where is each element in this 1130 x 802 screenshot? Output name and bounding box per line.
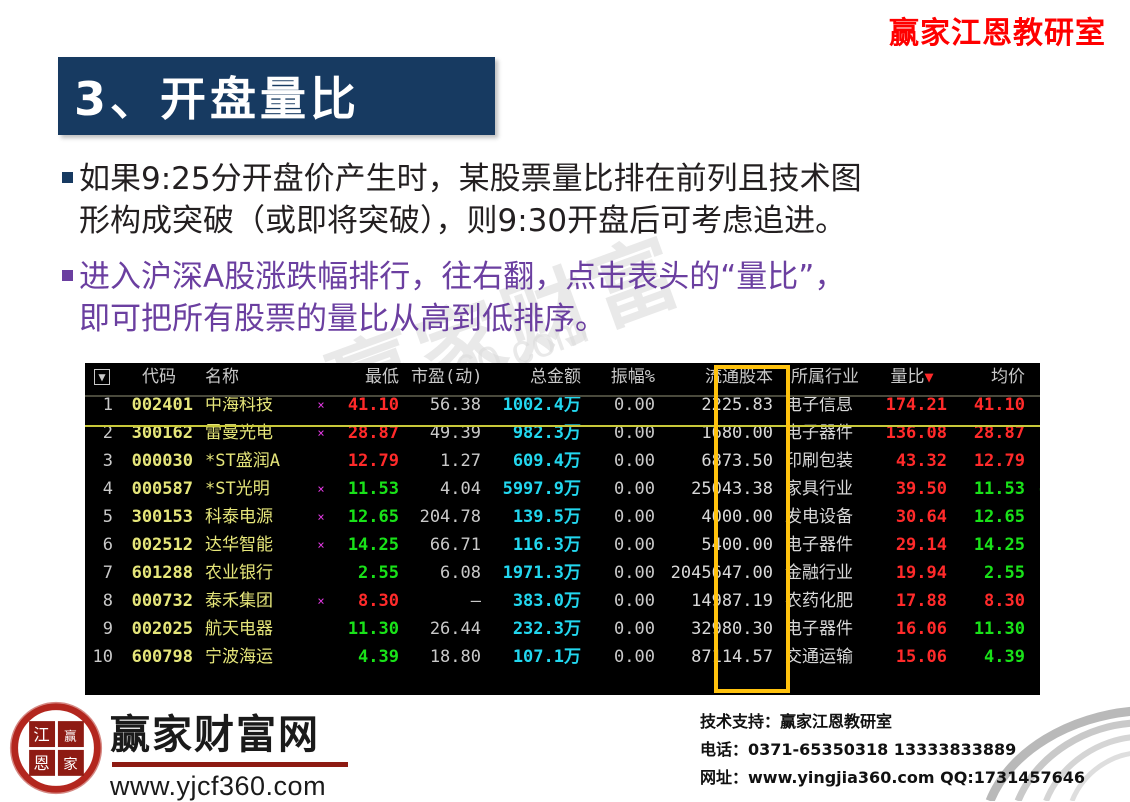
cell-code: 002512	[119, 531, 199, 559]
section-title-box: 3、开盘量比	[58, 57, 495, 135]
cell-volume-ratio: 16.06	[871, 615, 953, 643]
cell-code: 000587	[119, 475, 199, 503]
filter-dropdown-icon[interactable]: ▼	[85, 363, 119, 391]
cell-industry: 交通运输	[779, 643, 871, 671]
cell-name: 农业银行	[199, 559, 311, 587]
cell-pe: 6.08	[405, 559, 487, 587]
cell-amount: 609.4万	[487, 447, 587, 475]
cell-low: 11.30	[331, 615, 405, 643]
cell-volume-ratio: 29.14	[871, 531, 953, 559]
cell-industry: 电子器件	[779, 419, 871, 447]
cell-mark-icon: ×	[311, 419, 331, 447]
cell-avg-price: 28.87	[953, 419, 1031, 447]
cell-volume-ratio: 39.50	[871, 475, 953, 503]
cell-amplitude: 0.00	[587, 447, 661, 475]
cell-shares: 4000.00	[661, 503, 779, 531]
cell-mark-icon	[311, 447, 331, 475]
cell-bid-ratio: -70.84	[1031, 447, 1040, 475]
cell-index: 4	[85, 475, 119, 503]
cell-amount: 1971.3万	[487, 559, 587, 587]
cell-avg-price: 11.53	[953, 475, 1031, 503]
cell-code: 601288	[119, 559, 199, 587]
footer-contact-block: 技术支持：赢家江恩教研室 电话：0371-65350318 1333383388…	[700, 708, 1085, 792]
bullet-list: 如果9:25分开盘价产生时，某股票量比排在前列且技术图 形构成突破（或即将突破）…	[62, 158, 1082, 355]
cell-industry: 发电设备	[779, 503, 871, 531]
column-header-mark	[311, 363, 331, 391]
selected-row-underline	[85, 425, 1040, 427]
cell-code: 300153	[119, 503, 199, 531]
stock-quote-table[interactable]: ▼ 代码 名称 最低 市盈(动) 总金额 振幅% 流通股本 所属行业 量比▼ 均…	[85, 363, 1040, 695]
bullet-text-2: 进入沪深A股涨跌幅排行，往右翻，点击表头的“量比”， 即可把所有股票的量比从高到…	[79, 256, 845, 340]
cell-low: 4.39	[331, 643, 405, 671]
cell-bid-ratio: 30.73	[1031, 419, 1040, 447]
cell-avg-price: 4.39	[953, 643, 1031, 671]
cell-amplitude: 0.00	[587, 559, 661, 587]
cell-mark-icon: ×	[311, 475, 331, 503]
cell-amount: 5997.9万	[487, 475, 587, 503]
cell-amplitude: 0.00	[587, 587, 661, 615]
brand-title: 赢家江恩教研室	[889, 8, 1106, 52]
column-header-amount[interactable]: 总金额	[487, 363, 587, 391]
cell-code: 000030	[119, 447, 199, 475]
cell-volume-ratio: 43.32	[871, 447, 953, 475]
column-header-pe[interactable]: 市盈(动)	[405, 363, 487, 391]
cell-shares: 2045647.00	[661, 559, 779, 587]
cell-pe: —	[405, 587, 487, 615]
cell-code: 600798	[119, 643, 199, 671]
cell-avg-price: 14.25	[953, 531, 1031, 559]
cell-shares: 6873.50	[661, 447, 779, 475]
bullet-item-2: 进入沪深A股涨跌幅排行，往右翻，点击表头的“量比”， 即可把所有股票的量比从高到…	[62, 256, 1082, 340]
cell-amount: 232.3万	[487, 615, 587, 643]
bullet-item-1: 如果9:25分开盘价产生时，某股票量比排在前列且技术图 形构成突破（或即将突破）…	[62, 158, 1082, 242]
column-header-code[interactable]: 代码	[119, 363, 199, 391]
cell-shares: 25043.38	[661, 475, 779, 503]
cell-index: 8	[85, 587, 119, 615]
cell-pe: 26.44	[405, 615, 487, 643]
cell-amplitude: 0.00	[587, 643, 661, 671]
cell-volume-ratio: 136.08	[871, 419, 953, 447]
contact-phone: 电话：0371-65350318 13333833889	[700, 736, 1085, 764]
contact-support: 技术支持：赢家江恩教研室	[700, 708, 1085, 736]
page-title: 3、开盘量比	[58, 63, 360, 129]
cell-name: 航天电器	[199, 615, 311, 643]
cell-amplitude: 0.00	[587, 531, 661, 559]
cell-bid-ratio: 31.93	[1031, 615, 1040, 643]
cell-bid-ratio: 74.13	[1031, 503, 1040, 531]
stock-table-grid: ▼ 代码 名称 最低 市盈(动) 总金额 振幅% 流通股本 所属行业 量比▼ 均…	[85, 363, 1040, 671]
cell-industry: 印刷包装	[779, 447, 871, 475]
cell-index: 6	[85, 531, 119, 559]
cell-low: 2.55	[331, 559, 405, 587]
svg-text:恩: 恩	[33, 754, 49, 773]
cell-name: 宁波海运	[199, 643, 311, 671]
column-header-volume-ratio-label: 量比	[890, 367, 924, 387]
svg-text:江: 江	[33, 725, 49, 744]
column-header-avg-price[interactable]: 均价	[953, 363, 1031, 391]
cell-volume-ratio: 19.94	[871, 559, 953, 587]
cell-bid-ratio: 9.17	[1031, 559, 1040, 587]
cell-name: 科泰电源	[199, 503, 311, 531]
cell-low: 14.25	[331, 531, 405, 559]
cell-index: 5	[85, 503, 119, 531]
company-seal-logo-icon: 江 赢 恩 家	[8, 700, 104, 796]
cell-shares: 14987.19	[661, 587, 779, 615]
cell-pe: 66.71	[405, 531, 487, 559]
cell-volume-ratio: 15.06	[871, 643, 953, 671]
column-header-volume-ratio[interactable]: 量比▼	[871, 363, 953, 391]
cell-shares: 1680.00	[661, 419, 779, 447]
cell-industry: 电子器件	[779, 531, 871, 559]
cell-bid-ratio: 49.93	[1031, 587, 1040, 615]
cell-mark-icon	[311, 643, 331, 671]
cell-amount: 383.0万	[487, 587, 587, 615]
cell-amplitude: 0.00	[587, 475, 661, 503]
cell-avg-price: 12.65	[953, 503, 1031, 531]
cell-shares: 32980.30	[661, 615, 779, 643]
cell-mark-icon	[311, 615, 331, 643]
sort-descending-icon: ▼	[924, 368, 933, 386]
cell-pe: 18.80	[405, 643, 487, 671]
svg-text:赢: 赢	[64, 728, 77, 743]
cell-amount: 116.3万	[487, 531, 587, 559]
cell-amplitude: 0.00	[587, 503, 661, 531]
cell-amount: 107.1万	[487, 643, 587, 671]
cell-amplitude: 0.00	[587, 615, 661, 643]
cell-avg-price: 11.30	[953, 615, 1031, 643]
bullet-text-1: 如果9:25分开盘价产生时，某股票量比排在前列且技术图 形构成突破（或即将突破）…	[79, 158, 862, 242]
column-header-shares[interactable]: 流通股本	[661, 363, 779, 391]
cell-avg-price: 8.30	[953, 587, 1031, 615]
cell-bid-ratio: -100.00	[1031, 475, 1040, 503]
cell-code: 002025	[119, 615, 199, 643]
column-header-industry[interactable]: 所属行业	[779, 363, 871, 391]
contact-website: 网址：www.yingjia360.com QQ:1731457646	[700, 764, 1085, 792]
cell-industry: 家具行业	[779, 475, 871, 503]
cell-mark-icon: ×	[311, 587, 331, 615]
cell-code: 300162	[119, 419, 199, 447]
column-header-low[interactable]: 最低	[331, 363, 405, 391]
cell-mark-icon: ×	[311, 503, 331, 531]
cell-volume-ratio: 17.88	[871, 587, 953, 615]
cell-low: 11.53	[331, 475, 405, 503]
cell-index: 2	[85, 419, 119, 447]
cell-bid-ratio: -71.63	[1031, 531, 1040, 559]
cell-industry: 金融行业	[779, 559, 871, 587]
column-header-amplitude[interactable]: 振幅%	[587, 363, 661, 391]
cell-low: 12.65	[331, 503, 405, 531]
cell-pe: 204.78	[405, 503, 487, 531]
cell-code: 000732	[119, 587, 199, 615]
svg-text:家: 家	[63, 756, 77, 773]
column-header-name[interactable]: 名称	[199, 363, 311, 391]
cell-pe: 4.04	[405, 475, 487, 503]
cell-low: 8.30	[331, 587, 405, 615]
cell-index: 10	[85, 643, 119, 671]
cell-index: 7	[85, 559, 119, 587]
cell-name: *ST光明	[199, 475, 311, 503]
cell-mark-icon	[311, 559, 331, 587]
footer-logo-divider	[112, 762, 348, 767]
bullet-marker-icon	[62, 172, 73, 183]
cell-low: 28.87	[331, 419, 405, 447]
footer-site-url: www.yjcf360.com	[110, 771, 348, 802]
cell-bid-ratio: 23.51	[1031, 643, 1040, 671]
cell-index: 3	[85, 447, 119, 475]
cell-shares: 5400.00	[661, 531, 779, 559]
cell-name: 达华智能	[199, 531, 311, 559]
footer-site-name: 赢家财富网	[110, 702, 348, 760]
bullet-marker-icon	[62, 270, 73, 281]
cell-pe: 1.27	[405, 447, 487, 475]
header-separator	[85, 395, 1040, 397]
cell-amount: 982.3万	[487, 419, 587, 447]
cell-amount: 139.5万	[487, 503, 587, 531]
cell-name: 雷曼光电	[199, 419, 311, 447]
footer-logo-text: 赢家财富网 www.yjcf360.com	[110, 702, 348, 802]
cell-shares: 87114.57	[661, 643, 779, 671]
cell-volume-ratio: 30.64	[871, 503, 953, 531]
cell-avg-price: 12.79	[953, 447, 1031, 475]
column-header-bid-ratio[interactable]: 委比%	[1031, 363, 1040, 391]
cell-mark-icon: ×	[311, 531, 331, 559]
cell-industry: 农药化肥	[779, 587, 871, 615]
cell-index: 9	[85, 615, 119, 643]
cell-low: 12.79	[331, 447, 405, 475]
cell-pe: 49.39	[405, 419, 487, 447]
cell-industry: 电子器件	[779, 615, 871, 643]
cell-name: *ST盛润A	[199, 447, 311, 475]
cell-name: 泰禾集团	[199, 587, 311, 615]
cell-avg-price: 2.55	[953, 559, 1031, 587]
cell-amplitude: 0.00	[587, 419, 661, 447]
